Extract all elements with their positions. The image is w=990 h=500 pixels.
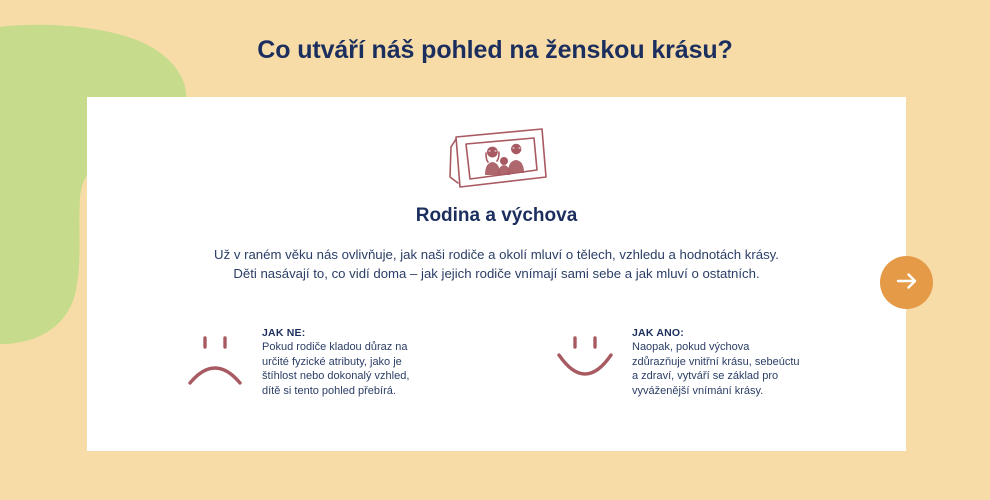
content-card: Rodina a výchova Už v raném věku nás ovl… — [87, 97, 906, 451]
comparison-body-positive: Naopak, pokud výchova zdůrazňuje vnitřní… — [632, 340, 800, 398]
sad-face-icon — [182, 331, 248, 393]
slide-root: { "theme": { "background": "#F7DCA7", "b… — [0, 0, 990, 500]
text-line: Naopak, pokud výchova — [632, 340, 800, 355]
comparison-item-negative: JAK NE: Pokud rodiče kladou důraz na urč… — [182, 325, 492, 398]
family-photo-frame-icon — [442, 125, 552, 193]
comparison-label-negative: JAK NE: — [262, 327, 409, 339]
lead-line-1: Už v raném věku nás ovlivňuje, jak naši … — [117, 245, 876, 264]
text-line: Pokud rodiče kladou důraz na — [262, 340, 409, 355]
comparison-label-positive: JAK ANO: — [632, 327, 800, 339]
lead-line-2: Děti nasávají to, co vidí doma – jak jej… — [117, 264, 876, 283]
happy-face-icon — [552, 331, 618, 393]
next-slide-button[interactable] — [880, 256, 933, 309]
text-line: zdůrazňuje vnitřní krásu, sebeúctu — [632, 355, 800, 370]
text-line: a zdraví, vytváří se základ pro — [632, 369, 800, 384]
comparison-row: JAK NE: Pokud rodiče kladou důraz na urč… — [182, 325, 862, 398]
comparison-text-positive: JAK ANO: Naopak, pokud výchova zdůrazňuj… — [632, 325, 800, 398]
lead-paragraph: Už v raném věku nás ovlivňuje, jak naši … — [117, 245, 876, 283]
section-title: Rodina a výchova — [87, 205, 906, 227]
comparison-body-negative: Pokud rodiče kladou důraz na určité fyzi… — [262, 340, 409, 398]
arrow-right-icon — [894, 268, 920, 297]
text-line: štíhlost nebo dokonalý vzhled, — [262, 369, 409, 384]
page-title: Co utváří náš pohled na ženskou krásu? — [0, 36, 990, 65]
text-line: vyváženější vnímání krásy. — [632, 384, 800, 399]
comparison-text-negative: JAK NE: Pokud rodiče kladou důraz na urč… — [262, 325, 409, 398]
text-line: dítě si tento pohled přebírá. — [262, 384, 409, 399]
comparison-item-positive: JAK ANO: Naopak, pokud výchova zdůrazňuj… — [552, 325, 862, 398]
text-line: určité fyzické atributy, jako je — [262, 355, 409, 370]
